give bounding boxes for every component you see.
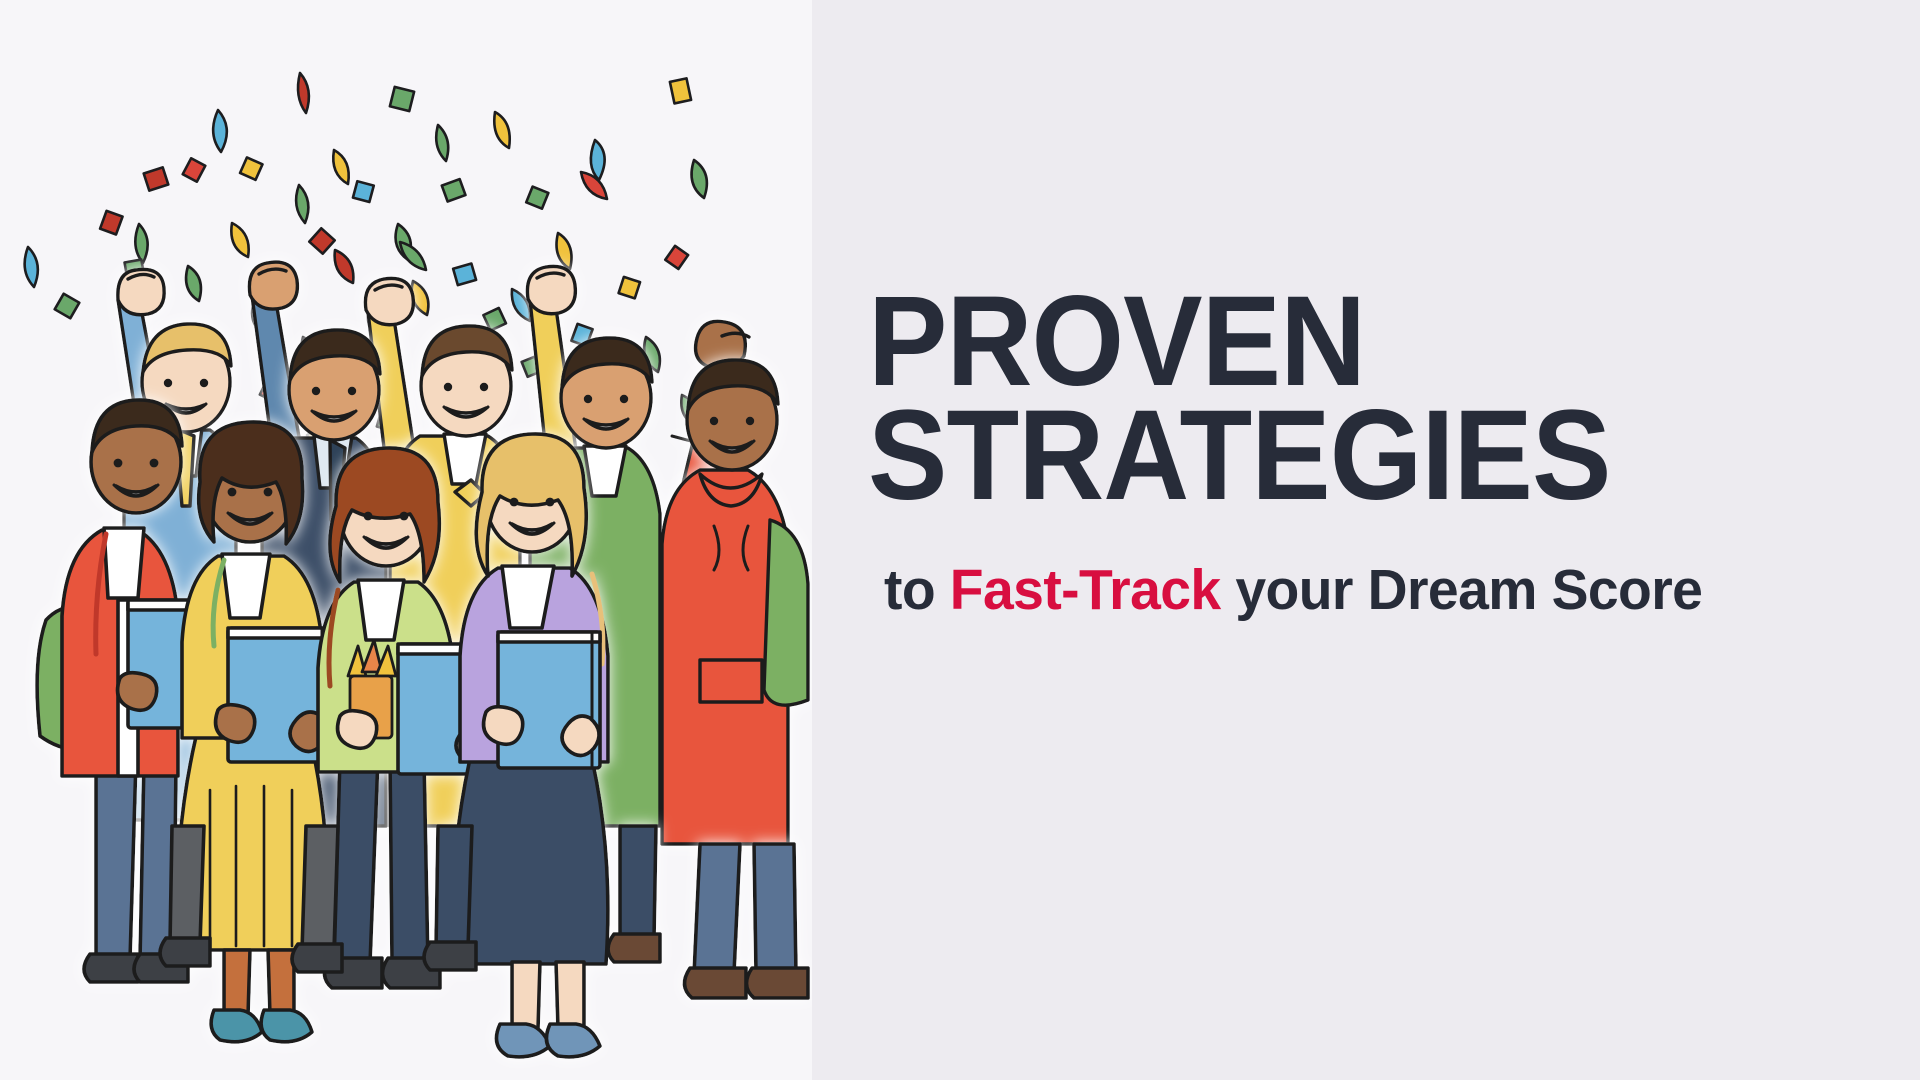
subheadline: to Fast-Track your Dream Score — [884, 557, 1848, 623]
page-title: PROVEN STRATEGIES — [868, 282, 1878, 517]
promo-banner: PROVEN STRATEGIES to Fast-Track your Dre… — [0, 0, 1920, 1080]
illustration-panel — [0, 0, 812, 1080]
headline-block: PROVEN STRATEGIES to Fast-Track your Dre… — [868, 282, 1878, 623]
subheadline-accent: Fast-Track — [950, 558, 1221, 622]
celebrating-students-illustration — [0, 0, 812, 1080]
headline-line-2: STRATEGIES — [868, 396, 1807, 516]
subheadline-suffix: your Dream Score — [1221, 558, 1703, 622]
subheadline-prefix: to — [884, 558, 950, 622]
